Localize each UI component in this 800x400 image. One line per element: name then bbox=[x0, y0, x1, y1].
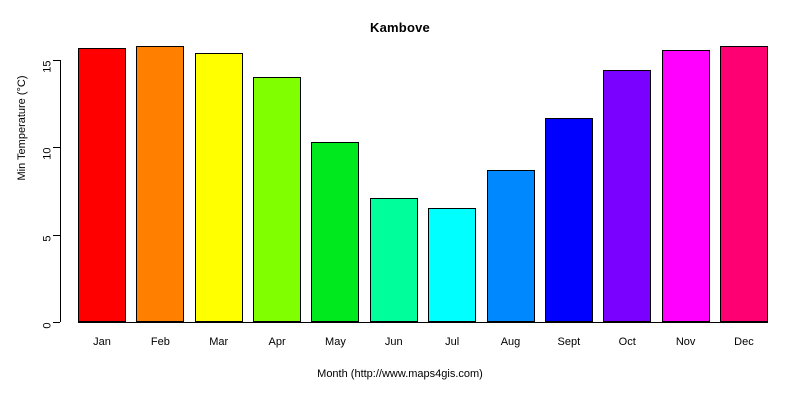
bar-dec bbox=[720, 46, 768, 322]
bar-may bbox=[311, 142, 359, 322]
x-axis-line bbox=[78, 322, 768, 323]
bar-jan bbox=[78, 48, 126, 322]
bar-slot bbox=[720, 40, 768, 322]
y-axis-tick-label: 5 bbox=[43, 235, 54, 253]
bar-apr bbox=[253, 77, 301, 322]
y-axis-tick bbox=[53, 60, 60, 61]
bar-slot bbox=[603, 40, 651, 322]
bar-slot bbox=[253, 40, 301, 322]
chart-title: Kambove bbox=[0, 20, 800, 35]
bar-slot bbox=[487, 40, 535, 322]
bar-slot bbox=[311, 40, 359, 322]
bar-aug bbox=[487, 170, 535, 322]
bar-sept bbox=[545, 118, 593, 322]
bar-slot bbox=[545, 40, 593, 322]
bar-mar bbox=[195, 53, 243, 322]
bar-oct bbox=[603, 70, 651, 322]
x-axis-label-feb: Feb bbox=[136, 336, 184, 348]
x-axis-label-apr: Apr bbox=[253, 336, 301, 348]
bar-jul bbox=[428, 208, 476, 322]
bar-slot bbox=[662, 40, 710, 322]
plot-area bbox=[78, 40, 768, 322]
y-axis-title: Min Temperature (°C) bbox=[16, 28, 28, 228]
x-axis-label-jan: Jan bbox=[78, 336, 126, 348]
chart-container: Kambove 051015 Min Temperature (°C) JanF… bbox=[0, 0, 800, 400]
y-axis-tick-label: 15 bbox=[43, 61, 54, 79]
bar-slot bbox=[136, 40, 184, 322]
x-axis-label-jul: Jul bbox=[428, 336, 476, 348]
x-axis-label-mar: Mar bbox=[195, 336, 243, 348]
bar-slot bbox=[370, 40, 418, 322]
y-axis-tick bbox=[53, 322, 60, 323]
y-axis-tick bbox=[53, 235, 60, 236]
x-axis-label-may: May bbox=[311, 336, 359, 348]
bar-slot bbox=[195, 40, 243, 322]
bar-feb bbox=[136, 46, 184, 322]
y-axis-tick-label: 0 bbox=[43, 323, 54, 341]
x-axis-label-sept: Sept bbox=[545, 336, 593, 348]
bar-nov bbox=[662, 50, 710, 322]
x-axis-label-aug: Aug bbox=[487, 336, 535, 348]
bar-slot bbox=[428, 40, 476, 322]
x-axis-label-oct: Oct bbox=[603, 336, 651, 348]
y-axis-line bbox=[60, 60, 61, 322]
x-axis-tick-labels: JanFebMarAprMayJunJulAugSeptOctNovDec bbox=[78, 336, 768, 348]
bar-jun bbox=[370, 198, 418, 322]
x-axis-label-dec: Dec bbox=[720, 336, 768, 348]
y-axis-tick bbox=[53, 147, 60, 148]
x-axis-label-jun: Jun bbox=[370, 336, 418, 348]
y-axis-tick-label: 10 bbox=[43, 148, 54, 166]
bar-series bbox=[78, 40, 768, 322]
bar-slot bbox=[78, 40, 126, 322]
x-axis-label-nov: Nov bbox=[662, 336, 710, 348]
x-axis-title: Month (http://www.maps4gis.com) bbox=[0, 368, 800, 380]
